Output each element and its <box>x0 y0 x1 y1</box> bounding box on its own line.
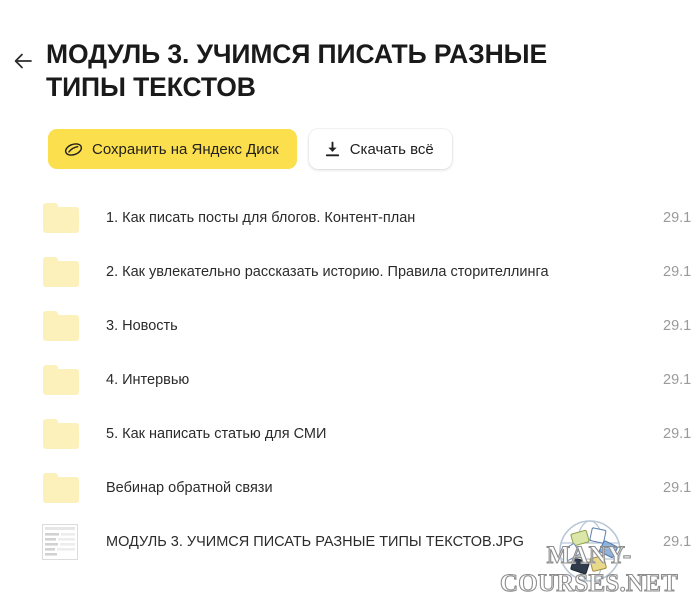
page-title: МОДУЛЬ 3. УЧИМСЯ ПИСАТЬ РАЗНЫЕ ТИПЫ ТЕКС… <box>46 36 606 104</box>
save-to-yandex-disk-button[interactable]: Сохранить на Яндекс Диск <box>48 129 297 169</box>
file-date: 29.1 <box>663 318 691 334</box>
file-name: 3. Новость <box>90 318 700 334</box>
arrow-left-icon <box>12 50 34 72</box>
file-date: 29.1 <box>663 372 691 388</box>
file-name: МОДУЛЬ 3. УЧИМСЯ ПИСАТЬ РАЗНЫЕ ТИПЫ ТЕКС… <box>90 534 700 550</box>
file-date: 29.1 <box>663 426 691 442</box>
file-name: 4. Интервью <box>90 372 700 388</box>
file-date: 29.1 <box>663 210 691 226</box>
download-all-label: Скачать всё <box>350 141 434 158</box>
file-name: 2. Как увлекательно рассказать историю. … <box>90 264 700 280</box>
folder-icon <box>42 364 90 396</box>
folder-icon <box>42 472 90 504</box>
back-button[interactable] <box>0 36 46 72</box>
file-row[interactable]: Вебинар обратной связи29.1 <box>0 461 700 515</box>
file-row[interactable]: МОДУЛЬ 3. УЧИМСЯ ПИСАТЬ РАЗНЫЕ ТИПЫ ТЕКС… <box>0 515 700 569</box>
action-toolbar: Сохранить на Яндекс Диск Скачать всё <box>48 129 452 169</box>
file-name: 1. Как писать посты для блогов. Контент-… <box>90 210 700 226</box>
download-icon <box>324 141 341 158</box>
file-row[interactable]: 1. Как писать посты для блогов. Контент-… <box>0 191 700 245</box>
yandex-disk-icon <box>64 140 83 159</box>
save-to-yandex-disk-label: Сохранить на Яндекс Диск <box>92 141 279 158</box>
file-name: 5. Как написать статью для СМИ <box>90 426 700 442</box>
folder-icon <box>42 202 90 234</box>
page-header: МОДУЛЬ 3. УЧИМСЯ ПИСАТЬ РАЗНЫЕ ТИПЫ ТЕКС… <box>0 36 700 104</box>
file-row[interactable]: 3. Новость29.1 <box>0 299 700 353</box>
download-all-button[interactable]: Скачать всё <box>309 129 452 169</box>
image-file-icon <box>42 524 90 560</box>
file-row[interactable]: 4. Интервью29.1 <box>0 353 700 407</box>
file-row[interactable]: 5. Как написать статью для СМИ29.1 <box>0 407 700 461</box>
file-date: 29.1 <box>663 264 691 280</box>
file-list: 1. Как писать посты для блогов. Контент-… <box>0 191 700 569</box>
folder-icon <box>42 418 90 450</box>
folder-icon <box>42 310 90 342</box>
file-name: Вебинар обратной связи <box>90 480 700 496</box>
file-row[interactable]: 2. Как увлекательно рассказать историю. … <box>0 245 700 299</box>
file-date: 29.1 <box>663 480 691 496</box>
file-date: 29.1 <box>663 534 691 550</box>
folder-icon <box>42 256 90 288</box>
